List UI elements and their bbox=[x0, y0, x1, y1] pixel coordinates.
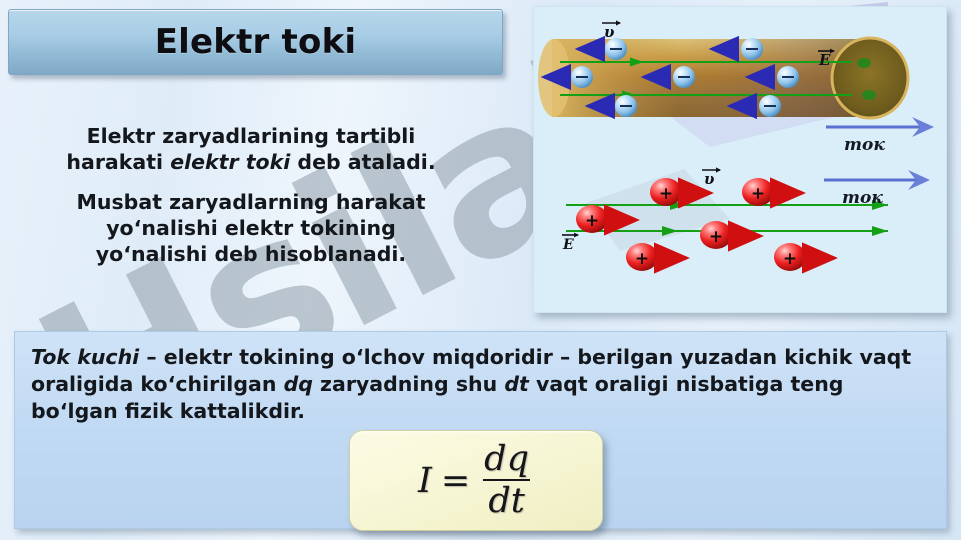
formula-equals: = bbox=[441, 461, 470, 501]
definition-line-4: yo‘nalishi elektr tokining bbox=[106, 216, 396, 240]
definition-line-2a: harakati bbox=[66, 150, 170, 174]
tok-kuchi-emphasis: Tok kuchi bbox=[31, 345, 139, 369]
svg-text:υ: υ bbox=[704, 170, 715, 188]
current-strength-text: Tok kuchi – elektr tokining o‘lchov miqd… bbox=[31, 344, 931, 425]
physics-diagram-panel: υ E ток + bbox=[533, 6, 947, 313]
svg-text:+: + bbox=[783, 249, 797, 269]
formula-numerator: dq bbox=[479, 442, 534, 479]
formula-fraction: dq dt bbox=[479, 442, 534, 519]
current-caption-bottom: ток bbox=[842, 188, 883, 208]
current-strength-part-2: zaryadning shu bbox=[313, 372, 504, 396]
svg-text:E: E bbox=[562, 237, 574, 253]
current-caption-top: ток bbox=[844, 135, 885, 155]
physics-diagram-svg: υ E ток + bbox=[534, 7, 946, 312]
definition-line-1: Elektr zaryadlarining tartibli bbox=[87, 124, 416, 148]
svg-text:+: + bbox=[751, 184, 765, 204]
formula-denominator: dt bbox=[483, 479, 529, 519]
definition-text: Elektr zaryadlarining tartibli harakati … bbox=[16, 123, 486, 267]
definition-emphasis-elektr-toki: elektr toki bbox=[170, 150, 290, 174]
definition-paragraph-1: Elektr zaryadlarining tartibli harakati … bbox=[16, 123, 486, 175]
svg-text:+: + bbox=[635, 249, 649, 269]
dt-emphasis: dt bbox=[504, 372, 528, 396]
current-formula: I = dq dt bbox=[418, 442, 534, 519]
formula-lhs: I bbox=[418, 461, 432, 501]
definition-line-3: Musbat zaryadlarning harakat bbox=[76, 190, 425, 214]
definition-line-2b: deb ataladi. bbox=[290, 150, 435, 174]
svg-text:+: + bbox=[585, 211, 599, 231]
dq-emphasis: dq bbox=[284, 372, 313, 396]
svg-text:E: E bbox=[818, 51, 831, 69]
svg-text:+: + bbox=[709, 227, 723, 247]
formula-box: I = dq dt bbox=[349, 430, 603, 531]
definition-paragraph-2: Musbat zaryadlarning harakat yo‘nalishi … bbox=[16, 189, 486, 267]
page-title: Elektr toki bbox=[155, 22, 357, 62]
svg-text:υ: υ bbox=[604, 23, 615, 41]
slide: Hsilab 24 Elektr toki Elektr zaryadlarin… bbox=[0, 0, 961, 540]
title-banner: Elektr toki bbox=[8, 9, 503, 75]
definition-line-5: yo‘nalishi deb hisoblanadi. bbox=[96, 242, 406, 266]
svg-text:+: + bbox=[659, 184, 673, 204]
